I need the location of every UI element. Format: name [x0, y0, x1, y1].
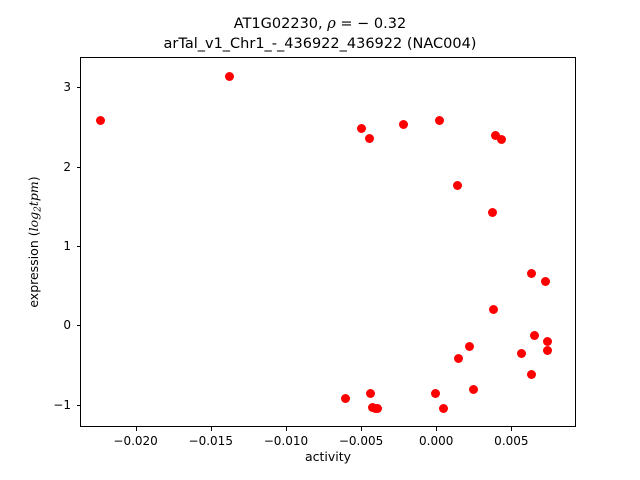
axis-ticks-layer: −0.020−0.015−0.010−0.0050.0000.0053210−1 — [80, 57, 576, 427]
figure-canvas: AT1G02230, ρ = − 0.32 arTal_v1_Chr1_-_43… — [0, 0, 640, 480]
y-tick-label: 1 — [63, 239, 71, 253]
y-axis-label: expression (log2tpm) — [26, 57, 44, 427]
y-axis-label-prefix: expression ( — [26, 231, 41, 307]
title-rho-symbol: ρ — [327, 16, 336, 32]
y-tick-mark — [77, 405, 81, 406]
y-axis-label-suffix: ) — [26, 176, 41, 181]
y-axis-label-unit: tpm — [26, 181, 41, 206]
x-tick-mark — [211, 427, 212, 431]
x-tick-label: 0.005 — [494, 434, 528, 448]
chart-title-line-1: AT1G02230, ρ = − 0.32 — [0, 14, 640, 34]
x-tick-label: −0.010 — [264, 434, 308, 448]
y-tick-mark — [77, 325, 81, 326]
y-tick-mark — [77, 87, 81, 88]
y-tick-label: 3 — [63, 80, 71, 94]
x-tick-mark — [436, 427, 437, 431]
x-axis-label: activity — [80, 449, 576, 464]
x-tick-mark — [511, 427, 512, 431]
x-tick-mark — [361, 427, 362, 431]
chart-title: AT1G02230, ρ = − 0.32 arTal_v1_Chr1_-_43… — [0, 14, 640, 54]
chart-title-line-2: arTal_v1_Chr1_-_436922_436922 (NAC004) — [0, 34, 640, 54]
x-tick-label: −0.020 — [113, 434, 157, 448]
title-gene-id: AT1G02230, — [234, 16, 323, 32]
x-tick-mark — [136, 427, 137, 431]
x-tick-mark — [286, 427, 287, 431]
y-tick-mark — [77, 167, 81, 168]
y-axis-label-subscript: 2 — [33, 206, 43, 212]
y-tick-label: 2 — [63, 160, 71, 174]
y-axis-label-log: log — [26, 212, 41, 232]
y-tick-label: 0 — [63, 318, 71, 332]
y-tick-mark — [77, 246, 81, 247]
y-tick-label: −1 — [53, 398, 71, 412]
x-tick-label: −0.005 — [339, 434, 383, 448]
x-tick-label: 0.000 — [419, 434, 453, 448]
x-tick-label: −0.015 — [189, 434, 233, 448]
title-rho-value: = − 0.32 — [340, 16, 406, 32]
